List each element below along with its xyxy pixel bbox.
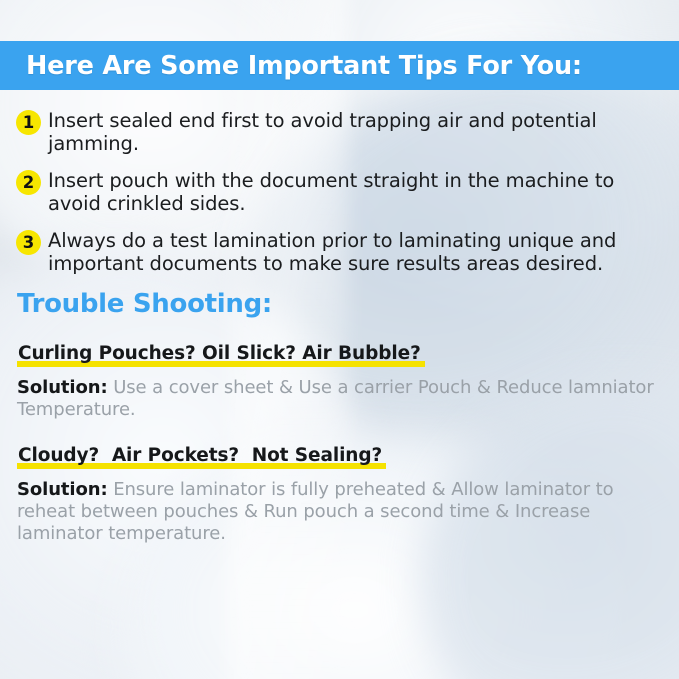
tip-number-badge: 2 xyxy=(16,170,41,195)
solution-label: Solution: xyxy=(17,377,108,398)
header-banner: Here Are Some Important Tips For You: xyxy=(0,41,679,90)
solution-label: Solution: xyxy=(17,479,108,500)
list-item: 1 Insert sealed end first to avoid trapp… xyxy=(16,109,657,155)
troubleshooting-question: Cloudy? Air Pockets? Not Sealing? xyxy=(17,445,386,469)
tip-text: Insert sealed end first to avoid trappin… xyxy=(48,109,657,155)
troubleshooting-solution: Solution: Use a cover sheet & Use a carr… xyxy=(17,377,657,421)
header-title: Here Are Some Important Tips For You: xyxy=(26,51,582,81)
tip-text: Always do a test lamination prior to lam… xyxy=(48,229,657,275)
tips-list: 1 Insert sealed end first to avoid trapp… xyxy=(0,90,679,275)
infographic-page: Here Are Some Important Tips For You: 1 … xyxy=(0,0,679,679)
troubleshooting-entry: Cloudy? Air Pockets? Not Sealing? Soluti… xyxy=(17,445,657,545)
troubleshooting-solution: Solution: Ensure laminator is fully preh… xyxy=(17,479,657,545)
tip-number-badge: 1 xyxy=(16,110,41,135)
troubleshooting-question: Curling Pouches? Oil Slick? Air Bubble? xyxy=(17,343,425,367)
troubleshooting-heading: Trouble Shooting: xyxy=(17,289,679,319)
troubleshooting-entry: Curling Pouches? Oil Slick? Air Bubble? … xyxy=(17,343,657,421)
solution-text: Use a cover sheet & Use a carrier Pouch … xyxy=(17,377,654,420)
list-item: 2 Insert pouch with the document straigh… xyxy=(16,169,657,215)
tip-text: Insert pouch with the document straight … xyxy=(48,169,657,215)
list-item: 3 Always do a test lamination prior to l… xyxy=(16,229,657,275)
tip-number-badge: 3 xyxy=(16,230,41,255)
content-area: 1 Insert sealed end first to avoid trapp… xyxy=(0,90,679,545)
troubleshooting-list: Curling Pouches? Oil Slick? Air Bubble? … xyxy=(0,343,679,545)
